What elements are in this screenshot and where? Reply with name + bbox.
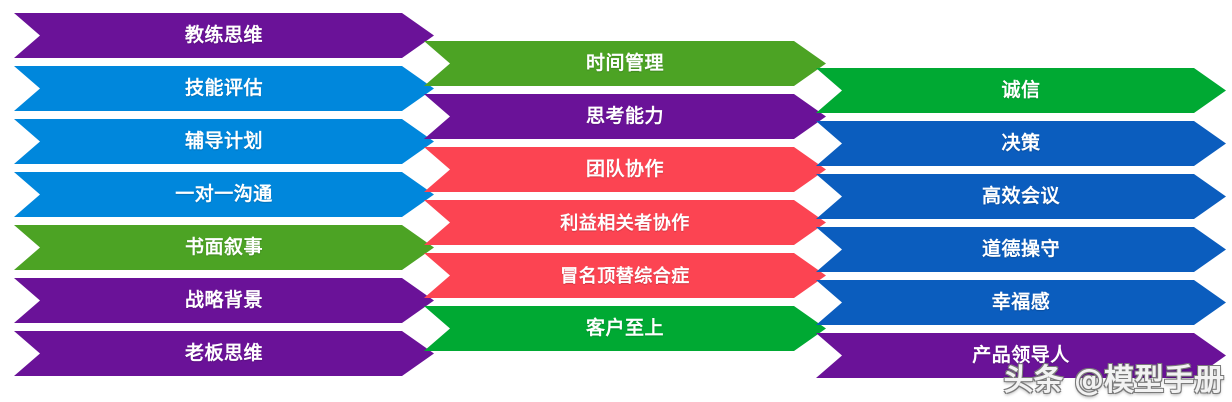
chevron-item[interactable]: 一对一沟通 [14,172,434,217]
chevron-label: 老板思维 [185,344,263,363]
chevron-item[interactable]: 决策 [816,121,1226,166]
chevron-item[interactable]: 高效会议 [816,174,1226,219]
chevron-item[interactable]: 团队协作 [424,147,826,192]
chevron-item[interactable]: 诚信 [816,68,1226,113]
chevron-item[interactable]: 老板思维 [14,331,434,376]
chevron-item[interactable]: 战略背景 [14,278,434,323]
chevron-label: 一对一沟通 [175,185,273,204]
chevron-label: 战略背景 [185,291,263,310]
chevron-item[interactable]: 辅导计划 [14,119,434,164]
chevron-label: 技能评估 [185,79,263,98]
chevron-item[interactable]: 思考能力 [424,94,826,139]
chevron-label: 思考能力 [586,107,664,126]
infographic-canvas: 教练思维技能评估辅导计划一对一沟通书面叙事战略背景老板思维 时间管理思考能力团队… [0,0,1232,402]
chevron-label: 辅导计划 [185,132,263,151]
chevron-label: 团队协作 [586,160,664,179]
chevron-label: 幸福感 [992,293,1051,312]
chevron-label: 诚信 [1001,81,1040,100]
chevron-label: 教练思维 [185,26,263,45]
right-column: 诚信决策高效会议道德操守幸福感产品领导人 [816,0,1226,402]
chevron-label: 道德操守 [982,240,1060,259]
chevron-item[interactable]: 道德操守 [816,227,1226,272]
chevron-label: 高效会议 [982,187,1060,206]
middle-column: 时间管理思考能力团队协作利益相关者协作冒名顶替综合症客户至上 [424,0,826,402]
chevron-item[interactable]: 时间管理 [424,41,826,86]
chevron-item[interactable]: 幸福感 [816,280,1226,325]
chevron-label: 冒名顶替综合症 [560,267,690,285]
chevron-item[interactable]: 产品领导人 [816,333,1226,378]
chevron-item[interactable]: 利益相关者协作 [424,200,826,245]
chevron-item[interactable]: 书面叙事 [14,225,434,270]
chevron-item[interactable]: 客户至上 [424,306,826,351]
chevron-label: 时间管理 [586,54,664,73]
left-column: 教练思维技能评估辅导计划一对一沟通书面叙事战略背景老板思维 [14,0,434,402]
chevron-item[interactable]: 技能评估 [14,66,434,111]
chevron-label: 利益相关者协作 [560,214,690,232]
chevron-item[interactable]: 教练思维 [14,13,434,58]
chevron-label: 决策 [1001,134,1040,153]
chevron-label: 书面叙事 [185,238,263,257]
chevron-label: 客户至上 [586,319,664,338]
chevron-label: 产品领导人 [972,346,1070,365]
chevron-item[interactable]: 冒名顶替综合症 [424,253,826,298]
